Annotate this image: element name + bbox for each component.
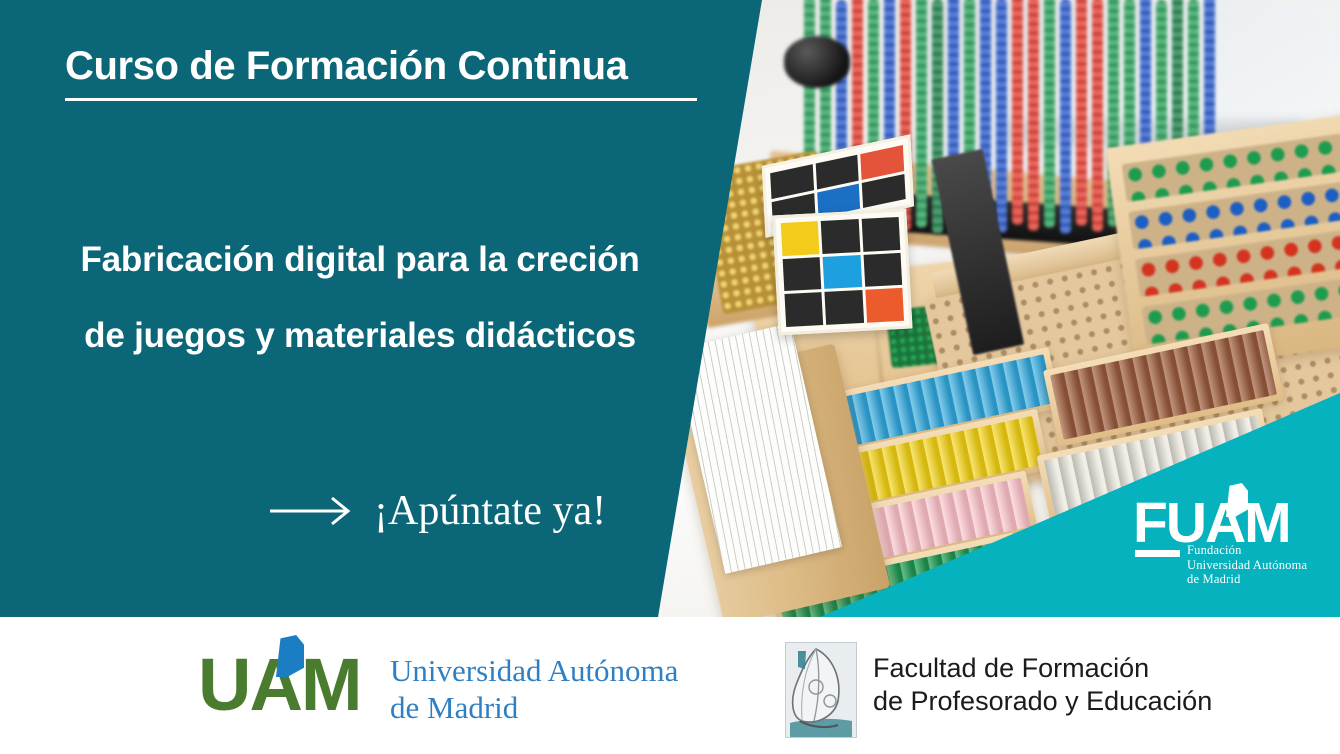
promo-banner: Curso de Formación Continua Fabricación … xyxy=(0,0,1340,754)
page-title: Fabricación digital para la creción de j… xyxy=(40,222,680,374)
sail-shell-emblem-icon xyxy=(785,642,857,738)
binomial-cube xyxy=(761,146,921,344)
black-knob xyxy=(784,36,850,88)
headline-line-1: Fabricación digital para la creción xyxy=(40,222,680,298)
fuam-subtitle-line-2: Universidad Autónoma xyxy=(1187,558,1307,573)
headline-line-2: de juegos y materiales didácticos xyxy=(40,298,680,374)
uam-text-line-1: Universidad Autónoma xyxy=(390,652,678,689)
signup-cta[interactable]: ¡Apúntate ya! xyxy=(268,490,606,532)
fuam-subtitle-line-3: de Madrid xyxy=(1187,572,1307,587)
cta-label: ¡Apúntate ya! xyxy=(374,490,606,532)
fuam-rule xyxy=(1135,550,1180,557)
uam-logo: UAM Universidad Autónoma de Madrid xyxy=(198,648,738,740)
long-right-arrow-icon xyxy=(268,496,356,526)
fuam-subtitle: Fundación Universidad Autónoma de Madrid xyxy=(1187,543,1307,587)
fuam-subtitle-line-1: Fundación xyxy=(1187,543,1307,558)
course-kicker: Curso de Formación Continua xyxy=(65,44,705,89)
fuam-logo: FUAM Fundación Universidad Autónoma de M… xyxy=(1133,495,1313,595)
facultad-text-line-2: de Profesorado y Educación xyxy=(873,685,1212,718)
facultad-text-line-1: Facultad de Formación xyxy=(873,652,1212,685)
uam-logo-text: Universidad Autónoma de Madrid xyxy=(390,652,678,726)
facultad-logo-text: Facultad de Formación de Profesorado y E… xyxy=(873,652,1212,718)
kicker-underline xyxy=(65,98,697,101)
uam-text-line-2: de Madrid xyxy=(390,689,678,726)
facultad-logo: Facultad de Formación de Profesorado y E… xyxy=(785,640,1205,744)
